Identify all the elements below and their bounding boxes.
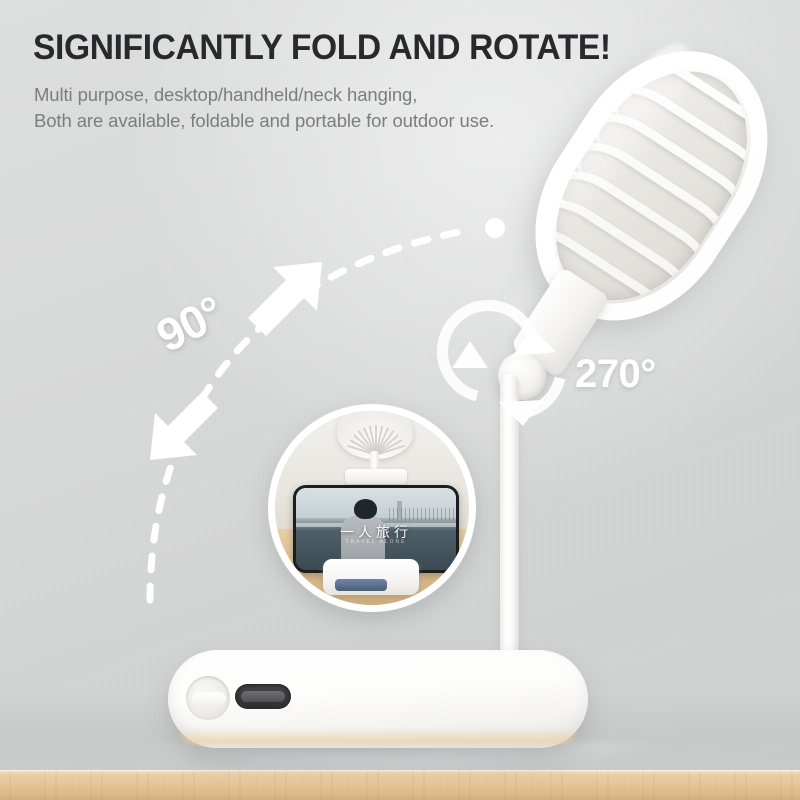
inset-phone-scene: 一人旅行 TRAVEL ALONE xyxy=(296,488,456,570)
inset-photo-bubble: 一人旅行 TRAVEL ALONE xyxy=(268,404,476,612)
inset-phone-clamp xyxy=(345,469,407,484)
product-marketing-image: SIGNIFICANTLY FOLD AND ROTATE! Multi pur… xyxy=(0,0,800,800)
subtitle-line-1: Multi purpose, desktop/handheld/neck han… xyxy=(34,84,417,106)
inset-subcaption: TRAVEL ALONE xyxy=(296,539,456,545)
inset-treeline xyxy=(389,508,456,521)
telescopic-stem xyxy=(500,374,519,666)
page-title: SIGNIFICANTLY FOLD AND ROTATE! xyxy=(33,28,611,68)
inset-person-head xyxy=(354,499,377,519)
base-warm-reflection xyxy=(178,728,578,744)
usb-c-port-icon xyxy=(235,684,291,709)
desk-wood-grain xyxy=(0,770,800,800)
subtitle-line-2: Both are available, foldable and portabl… xyxy=(34,110,494,132)
inset-photo: 一人旅行 TRAVEL ALONE xyxy=(275,411,469,605)
power-button-icon[interactable] xyxy=(186,676,230,720)
rotate-angle-label: 270° xyxy=(575,352,656,397)
desk-front-edge xyxy=(0,770,800,773)
inset-folded-base-holder xyxy=(323,559,419,595)
